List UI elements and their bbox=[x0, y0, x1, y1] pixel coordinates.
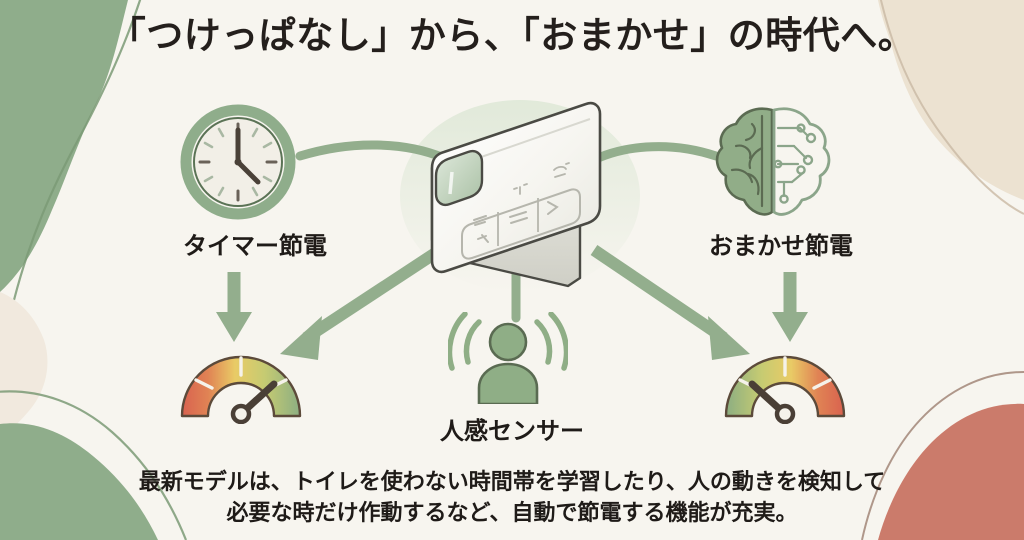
label-omakase-power-saving: おまかせ節電 bbox=[636, 226, 926, 261]
label-timer-power-saving: タイマー節電 bbox=[120, 226, 390, 261]
caption-block: 最新モデルは、トイレを使わない時間帯を学習したり、人の動きを検知して 必要な時だ… bbox=[0, 466, 1024, 528]
caption-line-1: 最新モデルは、トイレを使わない時間帯を学習したり、人の動きを検知して bbox=[0, 466, 1024, 497]
caption-line-2: 必要な時だけ作動するなど、自動で節電する機能が充実。 bbox=[0, 497, 1024, 528]
label-human-sensor: 人感センサー bbox=[392, 411, 632, 446]
efficiency-gauge-right bbox=[712, 328, 858, 424]
infographic-canvas: 「つけっぱなし」から、「おまかせ」の時代へ。 bbox=[0, 0, 1024, 540]
human-motion-sensor-icon bbox=[448, 312, 568, 404]
analog-clock-icon bbox=[178, 102, 298, 222]
toilet-remote-control-panel-icon[interactable] bbox=[418, 90, 614, 290]
ai-brain-circuit-icon bbox=[712, 102, 834, 222]
efficiency-gauge-left bbox=[168, 328, 314, 424]
page-title: 「つけっぱなし」から、「おまかせ」の時代へ。 bbox=[0, 14, 1024, 58]
